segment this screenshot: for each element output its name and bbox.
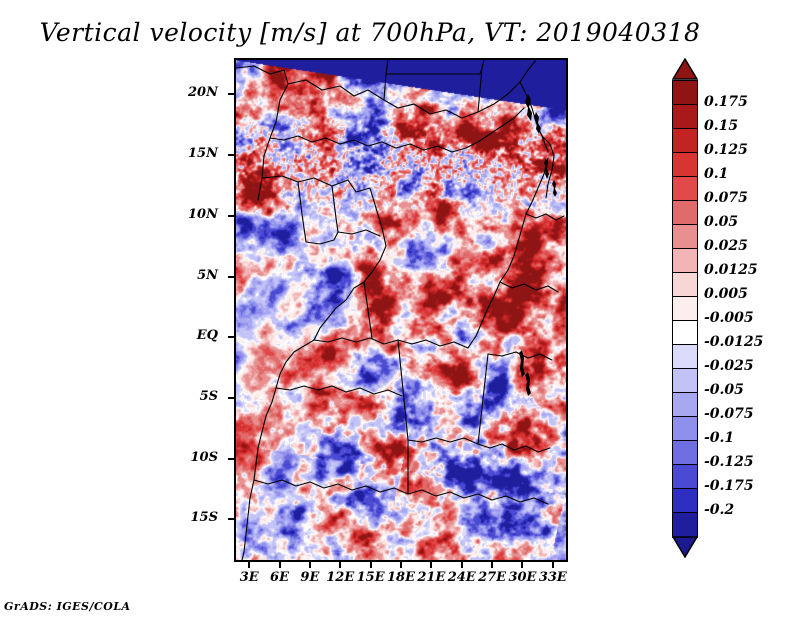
colorbar-segment — [672, 320, 698, 346]
y-axis-label: 5N — [158, 268, 218, 283]
colorbar-tick-label: -0.125 — [704, 454, 754, 470]
colorbar-segment — [672, 296, 698, 322]
colorbar-tick-label: 0.125 — [704, 142, 748, 158]
colorbar-segment — [672, 416, 698, 442]
x-axis-tick — [400, 562, 402, 568]
colorbar-segment — [672, 464, 698, 490]
colorbar-tick-label: 0.005 — [704, 286, 748, 302]
colorbar-segment — [672, 128, 698, 154]
x-axis-tick — [279, 562, 281, 568]
x-axis-tick — [339, 562, 341, 568]
y-axis-tick — [228, 93, 234, 95]
y-axis-label: 15N — [158, 146, 218, 161]
x-axis-tick — [521, 562, 523, 568]
y-axis-tick — [228, 154, 234, 156]
colorbar-tick-label: -0.1 — [704, 430, 734, 446]
y-axis-tick — [228, 518, 234, 520]
x-axis-label: 33E — [533, 570, 573, 585]
colorbar-max-arrow — [672, 58, 698, 80]
colorbar-tick-label: 0.025 — [704, 238, 748, 254]
y-axis-tick — [228, 458, 234, 460]
colorbar-tick-label: -0.005 — [704, 310, 754, 326]
colorbar-segment — [672, 176, 698, 202]
y-axis-label: 10S — [158, 450, 218, 465]
colorbar-tick-label: 0.05 — [704, 214, 738, 230]
colorbar-tick-label: -0.0125 — [704, 334, 763, 350]
colorbar-segment — [672, 368, 698, 394]
colorbar-tick-label: -0.05 — [704, 382, 744, 398]
colorbar-tick-label: -0.075 — [704, 406, 754, 422]
y-axis-label: 20N — [158, 85, 218, 100]
colorbar-segment — [672, 272, 698, 298]
colorbar-segment — [672, 224, 698, 250]
page-title: Vertical velocity [m/s] at 700hPa, VT: 2… — [0, 18, 740, 47]
x-axis-tick — [370, 562, 372, 568]
y-axis-label: EQ — [158, 328, 218, 343]
y-axis-tick — [228, 215, 234, 217]
colorbar-segment — [672, 104, 698, 130]
colorbar-segment — [672, 488, 698, 514]
y-axis-tick — [228, 397, 234, 399]
colorbar: 0.1750.150.1250.10.0750.050.0250.01250.0… — [672, 58, 698, 558]
colorbar-tick-label: 0.1 — [704, 166, 728, 182]
y-axis-label: 15S — [158, 510, 218, 525]
colorbar-segment — [672, 512, 698, 538]
colorbar-tick-label: -0.2 — [704, 502, 734, 518]
colorbar-segment — [672, 80, 698, 106]
colorbar-tick-label: 0.15 — [704, 118, 738, 134]
y-axis-label: 5S — [158, 389, 218, 404]
y-axis-label: 10N — [158, 207, 218, 222]
colorbar-min-arrow — [672, 536, 698, 558]
footer-credit: GrADS: IGES/COLA — [4, 600, 131, 613]
x-axis-tick — [430, 562, 432, 568]
colorbar-segment — [672, 392, 698, 418]
y-axis-tick — [228, 336, 234, 338]
colorbar-segment — [672, 200, 698, 226]
x-axis-tick — [461, 562, 463, 568]
colorbar-segment — [672, 152, 698, 178]
colorbar-segment — [672, 248, 698, 274]
x-axis-tick — [491, 562, 493, 568]
x-axis-tick — [552, 562, 554, 568]
colorbar-tick-label: 0.0125 — [704, 262, 758, 278]
x-axis-tick — [248, 562, 250, 568]
country-borders-overlay — [236, 60, 566, 560]
colorbar-segment — [672, 440, 698, 466]
colorbar-tick-label: -0.175 — [704, 478, 754, 494]
y-axis-tick — [228, 276, 234, 278]
map-plot-area — [234, 58, 568, 562]
x-axis-tick — [309, 562, 311, 568]
colorbar-segment — [672, 344, 698, 370]
colorbar-tick-label: 0.175 — [704, 94, 748, 110]
colorbar-tick-label: 0.075 — [704, 190, 748, 206]
colorbar-tick-label: -0.025 — [704, 358, 754, 374]
